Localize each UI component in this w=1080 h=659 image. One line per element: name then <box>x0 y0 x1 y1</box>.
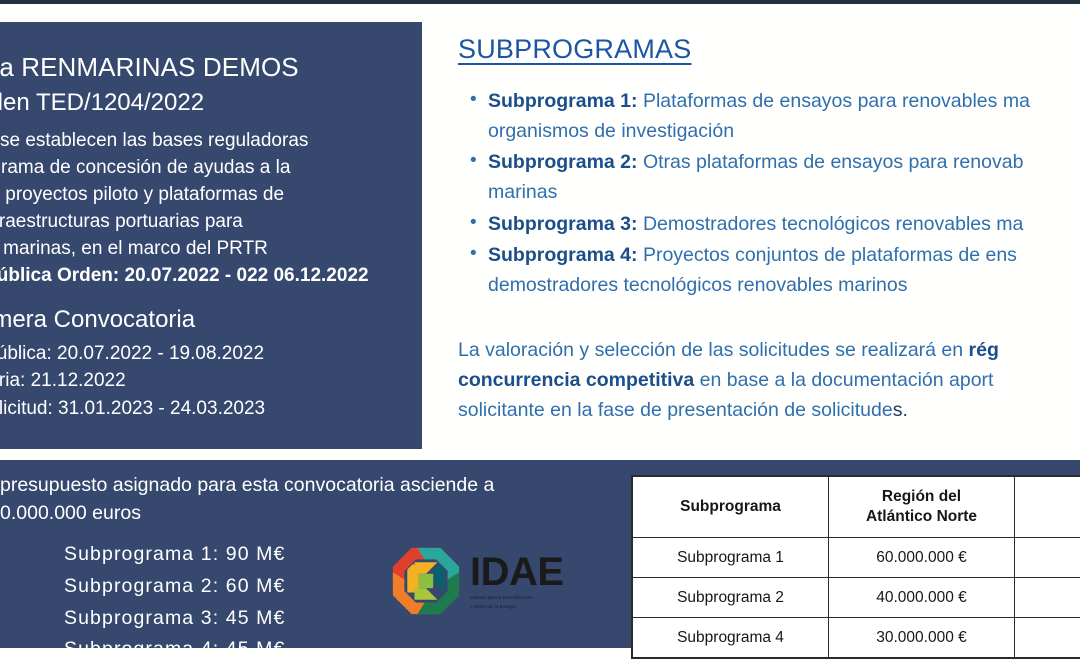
header-line-2: Atlántico Norte <box>833 507 1010 527</box>
programa-description: que se establecen las bases reguladoras … <box>0 128 402 263</box>
table-row: Subprograma 1 60.000.000 € 30. <box>633 538 1080 578</box>
description-line: n en proyectos piloto y plataformas de <box>0 182 402 209</box>
table-row: Subprograma 2 40.000.000 € 20. <box>633 578 1080 618</box>
valoracion-line: concurrencia competitiva en base a la do… <box>458 366 1080 396</box>
programa-subtitle: Orden TED/1204/2022 <box>0 88 402 118</box>
consulta-publica-line: ta pública Orden: 20.07.2022 - <box>0 265 231 286</box>
list-item: Subprograma 4: 45 M€ <box>64 634 494 648</box>
header-line-2: Mar N <box>1019 507 1080 527</box>
list-item: Subprograma 2: Otras plataformas de ensa… <box>488 148 1080 207</box>
list-item: Subprograma 4: Proyectos conjuntos de pl… <box>488 241 1080 300</box>
subprograma-label: Subprograma 4: <box>488 244 638 266</box>
presupuesto-lead-line: presupuesto asignado para esta convocato… <box>0 472 494 500</box>
convocatoria-dates: ta Pública: 20.07.2022 - 19.08.2022 cato… <box>0 340 402 423</box>
cell-mar: 20. <box>1015 578 1080 618</box>
subprogramas-list: Subprograma 1: Plataformas de ensayos pa… <box>458 87 1080 300</box>
idae-logo: IDAE Instituto para la Diversificación y… <box>390 545 558 617</box>
budget-table-container: Subprograma Región del Atlántico Norte R… <box>631 475 1080 659</box>
consulta-publica-line: 022 <box>237 265 269 286</box>
subprograma-text: Otras plataformas de ensayos para renova… <box>638 151 1024 173</box>
valoracion-tail: s. <box>893 399 908 421</box>
subprograma-text-cont: demostradores tecnológicos renovables ma… <box>488 271 1080 301</box>
description-line: programa de concesión de ayudas a la <box>0 155 402 182</box>
subprograma-text-cont: organismos de investigación <box>488 117 1080 147</box>
idae-wordmark: IDAE Instituto para la Diversificación y… <box>470 552 564 611</box>
column-header-subprograma: Subprograma <box>633 477 829 538</box>
valoracion-bold: concurrencia competitiva <box>458 369 694 391</box>
subprogramas-section: SUBPROGRAMAS Subprograma 1: Plataformas … <box>458 34 1080 425</box>
column-header-mar-norte: R Mar N <box>1015 477 1080 538</box>
subprograma-text: Demostradores tecnológicos renovables ma <box>638 213 1024 235</box>
description-line: e infraestructuras portuarias para <box>0 209 402 236</box>
cell-subprograma: Subprograma 4 <box>633 618 829 658</box>
cell-atlantico: 40.000.000 € <box>829 578 1015 618</box>
idae-tagline-line2: y Ahorro de la Energía <box>470 604 564 610</box>
presupuesto-lead: presupuesto asignado para esta convocato… <box>0 472 494 527</box>
header-line-1: Subprograma <box>680 498 781 515</box>
programa-title: ama RENMARINAS DEMOS <box>0 52 402 84</box>
subprograma-text: Plataformas de ensayos para renovables m… <box>638 90 1030 112</box>
subprograma-label: Subprograma 2: <box>488 151 638 173</box>
idae-hexagon-icon <box>390 545 462 617</box>
valoracion-line: La valoración y selección de las solicit… <box>458 336 1080 366</box>
cell-subprograma: Subprograma 2 <box>633 578 829 618</box>
primera-convocatoria-heading: Primera Convocatoria <box>0 306 402 334</box>
valoracion-bold: rég <box>969 339 999 361</box>
list-item: Subprograma 3: Demostradores tecnológico… <box>488 210 1080 240</box>
table-header-row: Subprograma Región del Atlántico Norte R… <box>633 477 1080 538</box>
idae-name: IDAE <box>470 552 564 592</box>
subprogramas-heading: SUBPROGRAMAS <box>458 34 1080 65</box>
cell-mar: 30. <box>1015 538 1080 578</box>
valoracion-text: solicitante en la fase de presentación d… <box>458 399 893 421</box>
convocatoria-date-line: e solicitud: 31.01.2023 - 24.03.2023 <box>0 395 402 423</box>
orden-date-line: 06.12.2022 <box>273 265 368 286</box>
column-header-atlantico-norte: Región del Atlántico Norte <box>829 477 1015 538</box>
top-edge-strip <box>0 0 1080 4</box>
subprograma-text: Proyectos conjuntos de plataformas de en… <box>638 244 1017 266</box>
cell-subprograma: Subprograma 1 <box>633 538 829 578</box>
subprograma-text-cont: marinas <box>488 178 1080 208</box>
cell-atlantico: 30.000.000 € <box>829 618 1015 658</box>
subprograma-label: Subprograma 3: <box>488 213 638 235</box>
header-line-1: Región del <box>882 488 961 505</box>
consulta-publica-block: ta pública Orden: 20.07.2022 - 022 06.12… <box>0 263 402 290</box>
convocatoria-date-line: catoria: 21.12.2022 <box>0 367 402 395</box>
description-line: bles marinas, en el marco del PRTR <box>0 236 402 263</box>
cell-mar: 15. <box>1015 618 1080 658</box>
idae-tagline-line1: Instituto para la Diversificación <box>470 595 564 601</box>
table-row: Subprograma 4 30.000.000 € 15. <box>633 618 1080 658</box>
cell-atlantico: 60.000.000 € <box>829 538 1015 578</box>
valoracion-line: solicitante en la fase de presentación d… <box>458 396 1080 426</box>
list-item: Subprograma 1: Plataformas de ensayos pa… <box>488 87 1080 146</box>
description-line: que se establecen las bases reguladoras <box>0 128 402 155</box>
presupuesto-lead-line: 0.000.000 euros <box>0 500 494 528</box>
budget-table: Subprograma Región del Atlántico Norte R… <box>632 476 1080 658</box>
valoracion-text: en base a la documentación aport <box>694 369 993 391</box>
valoracion-text: La valoración y selección de las solicit… <box>458 339 969 361</box>
subprograma-label: Subprograma 1: <box>488 90 638 112</box>
valoracion-paragraph: La valoración y selección de las solicit… <box>458 336 1080 425</box>
convocatoria-date-line: ta Pública: 20.07.2022 - 19.08.2022 <box>0 340 402 368</box>
programa-info-panel: ama RENMARINAS DEMOS Orden TED/1204/2022… <box>0 22 422 449</box>
